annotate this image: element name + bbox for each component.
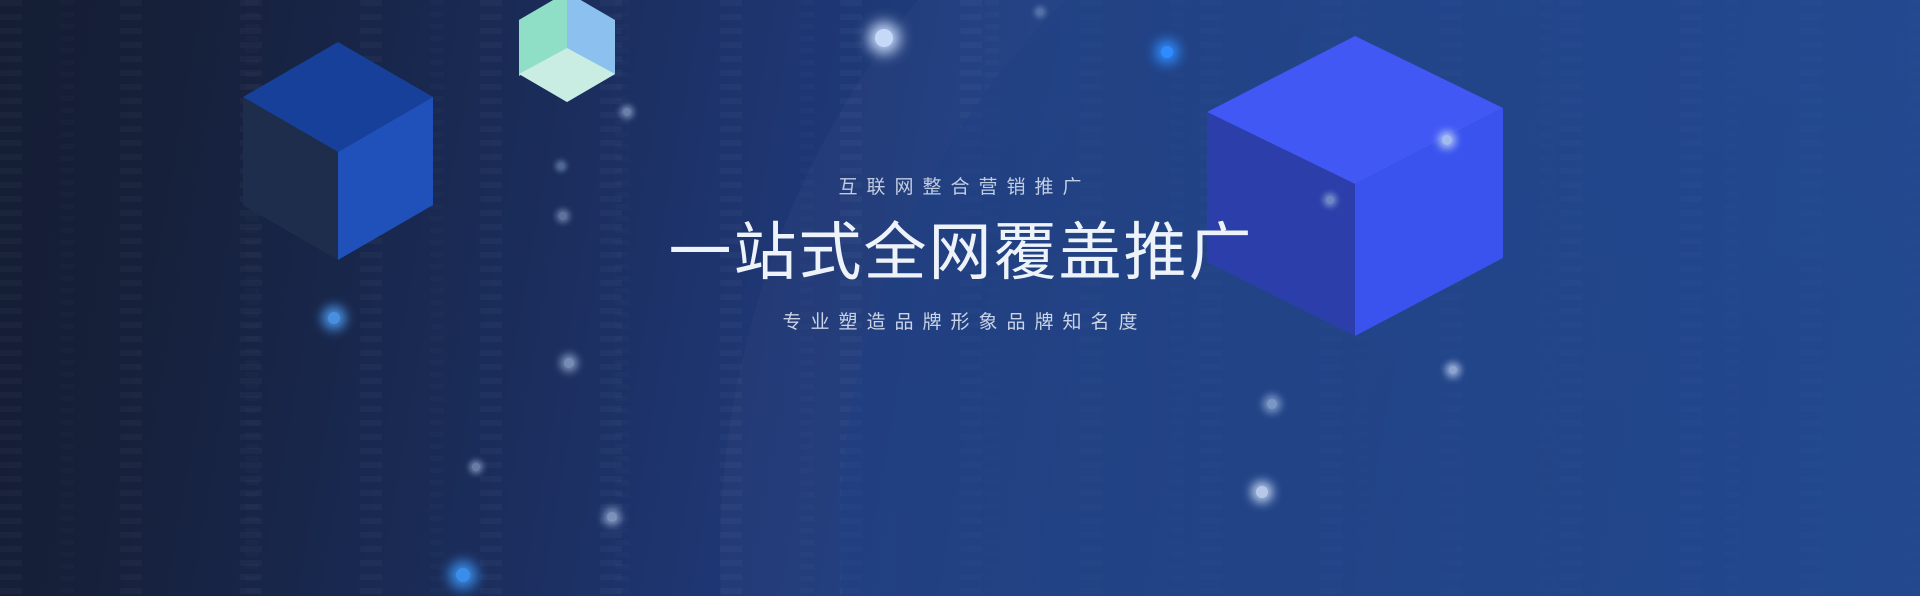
- particle-dot: [1161, 46, 1173, 58]
- particle-dot: [558, 163, 564, 169]
- particle-dot: [1037, 9, 1043, 15]
- particle-dot: [623, 108, 631, 116]
- particle-dot: [1256, 486, 1268, 498]
- hero-headline: 一站式全网覆盖推广: [0, 219, 1920, 287]
- hero-banner: 互联网整合营销推广 一站式全网覆盖推广 专业塑造品牌形象品牌知名度: [0, 0, 1920, 596]
- particle-dot: [472, 463, 480, 471]
- particle-dot: [607, 512, 617, 522]
- particle-dot: [456, 568, 470, 582]
- particle-dot: [1442, 135, 1452, 145]
- particle-dot: [564, 358, 574, 368]
- particle-dot: [1449, 366, 1457, 374]
- particle-dot: [875, 29, 893, 47]
- cube-mint-icon: [519, 0, 615, 102]
- hero-eyebrow: 互联网整合营销推广: [0, 178, 1920, 197]
- particle-dot: [1267, 399, 1277, 409]
- hero-text-block: 互联网整合营销推广 一站式全网覆盖推广 专业塑造品牌形象品牌知名度: [0, 178, 1920, 332]
- hero-subline: 专业塑造品牌形象品牌知名度: [0, 313, 1920, 332]
